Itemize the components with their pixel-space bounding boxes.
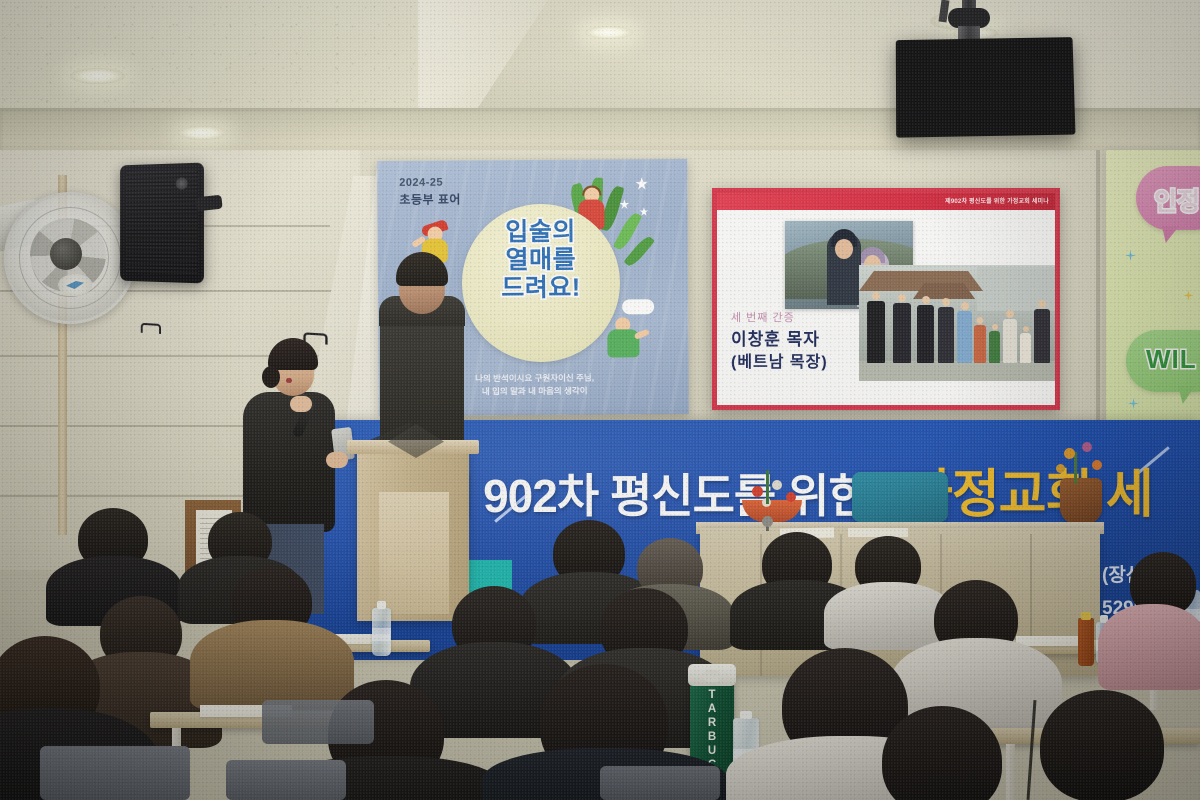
projection-screen-frame: 제902차 평신도를 위한 가정교회 세미나 <box>712 188 1060 410</box>
poster-slogan-line: 열매를 <box>466 245 616 274</box>
table-microphone <box>762 516 773 527</box>
audience-shoulders <box>190 620 354 710</box>
female-presenter-hand <box>290 396 312 412</box>
fan-badge-icon <box>58 274 92 296</box>
slide-header-bar: 제902차 평신도를 위한 가정교회 세미나 <box>717 193 1055 210</box>
flower-icon <box>1056 464 1065 473</box>
poster-slogan-line: 입술의 <box>466 217 616 246</box>
poster-slogan-line: 드려요! <box>466 273 616 302</box>
ceiling-soffit-right <box>430 0 1200 118</box>
flower-icon <box>772 480 782 490</box>
fan-hub <box>50 238 82 270</box>
slide-speaker-affiliation: (베트남 목장) <box>731 348 828 372</box>
flower-stem <box>766 470 769 504</box>
flower-stem <box>1074 452 1077 484</box>
speaker-hook <box>141 323 161 334</box>
chair-back <box>226 760 346 800</box>
female-presenter-body <box>243 392 335 532</box>
flower-icon <box>752 486 763 497</box>
flower-vase <box>1060 478 1102 524</box>
confidence-monitor <box>852 472 948 522</box>
speech-bubble-pink-text: 인정 <box>1154 182 1200 218</box>
slide-photo-group <box>859 265 1055 381</box>
beverage-bottle <box>1078 618 1094 666</box>
banner-title-white: 제 902차 평신도를 위한 <box>430 460 870 526</box>
tv-mount-joint <box>948 8 990 28</box>
audience-head <box>1040 690 1164 800</box>
pa-speaker <box>120 163 204 284</box>
water-bottle <box>372 608 391 656</box>
poster-department: 초등부 표어 <box>399 191 461 208</box>
female-presenter-hair-bun <box>262 366 280 388</box>
female-presenter-hand <box>326 452 348 468</box>
chair-back <box>40 746 190 800</box>
ceiling-light-icon <box>70 68 125 84</box>
seminar-hall-photo: 2024-25 초등부 표어 입술의 열매를 드려요! 나의 반석이시요 구원자… <box>0 0 1200 800</box>
slide-eyebrow: 세 번째 간증 <box>731 309 795 325</box>
flower-icon <box>1064 448 1075 459</box>
slide-speaker-name: 이창훈 목자 <box>731 325 820 350</box>
lectern-panel <box>379 492 449 614</box>
speech-bubble-green-text: WIL <box>1146 344 1197 375</box>
bottle-cap <box>1081 612 1091 620</box>
flower-icon <box>1082 442 1092 452</box>
flower-icon <box>786 492 796 502</box>
ceiling-tv <box>896 37 1076 138</box>
slide-header-text: 제902차 평신도를 위한 가정교회 세미나 <box>945 196 1049 205</box>
audience-shoulders <box>1098 604 1200 690</box>
poster-year: 2024-25 <box>399 177 443 189</box>
tumbler-lid-button <box>703 670 721 682</box>
table-paper <box>848 528 908 537</box>
poster-slogan: 입술의 열매를 드려요! <box>466 217 617 302</box>
projection-screen: 제902차 평신도를 위한 가정교회 세미나 <box>717 193 1055 405</box>
chair-back <box>262 700 374 744</box>
speaker-mount <box>195 195 222 212</box>
ceiling-light-icon <box>178 126 226 140</box>
desk-leg <box>1006 744 1015 800</box>
ceiling-light-icon <box>585 26 633 39</box>
female-presenter-lips <box>286 378 292 383</box>
flower-icon <box>1092 460 1102 470</box>
chair-back <box>600 766 720 800</box>
